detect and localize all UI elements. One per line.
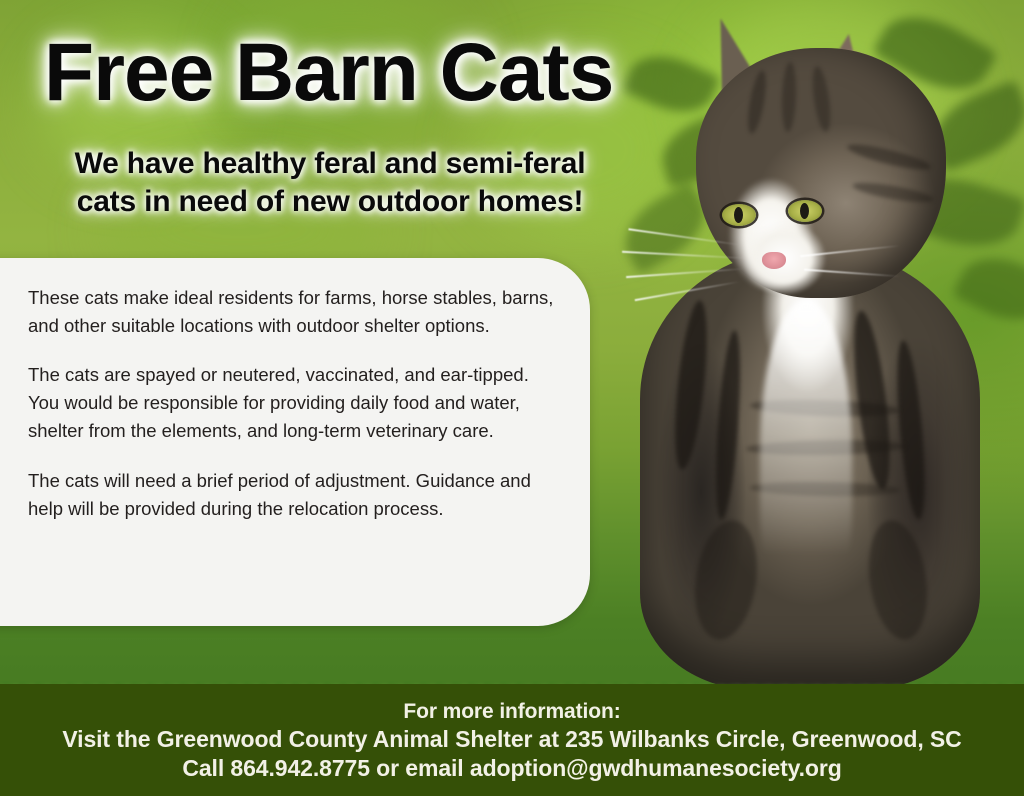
cat-eye-right [788, 200, 822, 222]
footer-contact: Call 864.942.8775 or email adoption@gwdh… [182, 755, 841, 782]
cat-photo [600, 0, 1024, 690]
subheadline-line-2: cats in need of new outdoor homes! [50, 183, 610, 221]
info-paragraph-3: The cats will need a brief period of adj… [28, 467, 556, 523]
cat-bib [760, 300, 852, 600]
info-card: These cats make ideal residents for farm… [0, 258, 590, 626]
footer-heading: For more information: [403, 700, 620, 724]
cat-nose [762, 252, 786, 269]
poster-headline: Free Barn Cats [44, 32, 613, 114]
footer-address: Visit the Greenwood County Animal Shelte… [62, 726, 961, 753]
cat-eye-left [722, 204, 756, 226]
info-paragraph-2: The cats are spayed or neutered, vaccina… [28, 361, 556, 445]
info-card-body: These cats make ideal residents for farm… [28, 284, 556, 523]
subheadline-line-1: We have healthy feral and semi-feral [50, 145, 610, 183]
poster: Free Barn Cats We have healthy feral and… [0, 0, 1024, 796]
info-paragraph-1: These cats make ideal residents for farm… [28, 284, 556, 340]
contact-footer-bar: For more information: Visit the Greenwoo… [0, 684, 1024, 796]
poster-subheadline: We have healthy feral and semi-feral cat… [50, 145, 610, 222]
